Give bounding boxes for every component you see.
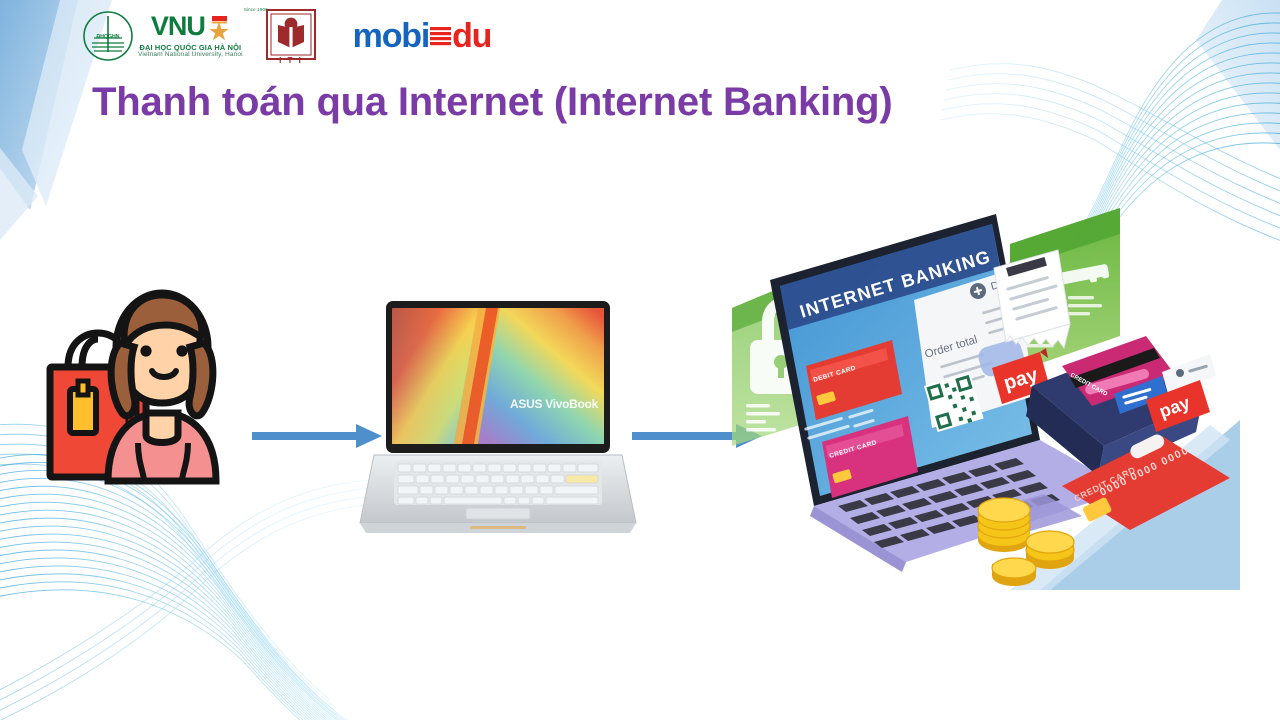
slide-root: ĐHQGHN VNU Since 1906 ĐẠI HỌC QUỐC GIA H…	[0, 0, 1280, 720]
mobiedu-e-icon	[427, 19, 453, 53]
mobiedu-part1: mobi	[353, 17, 429, 56]
iti-emblem-icon: I T I	[265, 8, 317, 64]
iti-logo: I T I	[265, 8, 317, 64]
laptop-brand-label: ASUS VivoBook	[510, 397, 599, 411]
shopper-illustration	[42, 285, 262, 500]
iti-label: I T I	[279, 56, 303, 64]
vnu-wordmark: VNU Since 1906	[151, 13, 230, 43]
laptop-illustration: ASUS VivoBook	[358, 295, 638, 545]
vnu-text-block: VNU Since 1906 ĐẠI HỌC QUỐC GIA HÀ NỘI V…	[138, 13, 243, 59]
mobiedu-logo: mobi du	[353, 17, 492, 56]
vnu-subtitle-vi: ĐẠI HỌC QUỐC GIA HÀ NỘI	[139, 44, 241, 51]
vnu-seal-label: ĐHQGHN	[96, 34, 119, 40]
laptop-trackpad	[466, 508, 530, 519]
vnu-logo: ĐHQGHN VNU Since 1906 ĐẠI HỌC QUỐC GIA H…	[82, 10, 243, 62]
page-title: Thanh toán qua Internet (Internet Bankin…	[92, 80, 1122, 125]
illustration-flow: ASUS VivoBook	[0, 190, 1280, 610]
mobiedu-part2: du	[452, 17, 491, 56]
receipt-icon	[994, 250, 1070, 348]
vnu-since-label: Since 1906	[244, 8, 268, 12]
vnu-star-flag-icon	[208, 15, 230, 43]
vnu-subtitle-en: Vietnam National University, Hanoi	[138, 52, 243, 59]
internet-banking-illustration: INTERNET BANKING DEBIT CARD CREDIT CARD	[710, 190, 1240, 590]
woman-avatar-icon	[108, 293, 216, 481]
vnu-seal-icon: ĐHQGHN	[82, 10, 134, 62]
logo-bar: ĐHQGHN VNU Since 1906 ĐẠI HỌC QUỐC GIA H…	[82, 4, 491, 68]
deco-right-top	[1196, 0, 1280, 150]
vnu-name: VNU	[151, 13, 205, 40]
